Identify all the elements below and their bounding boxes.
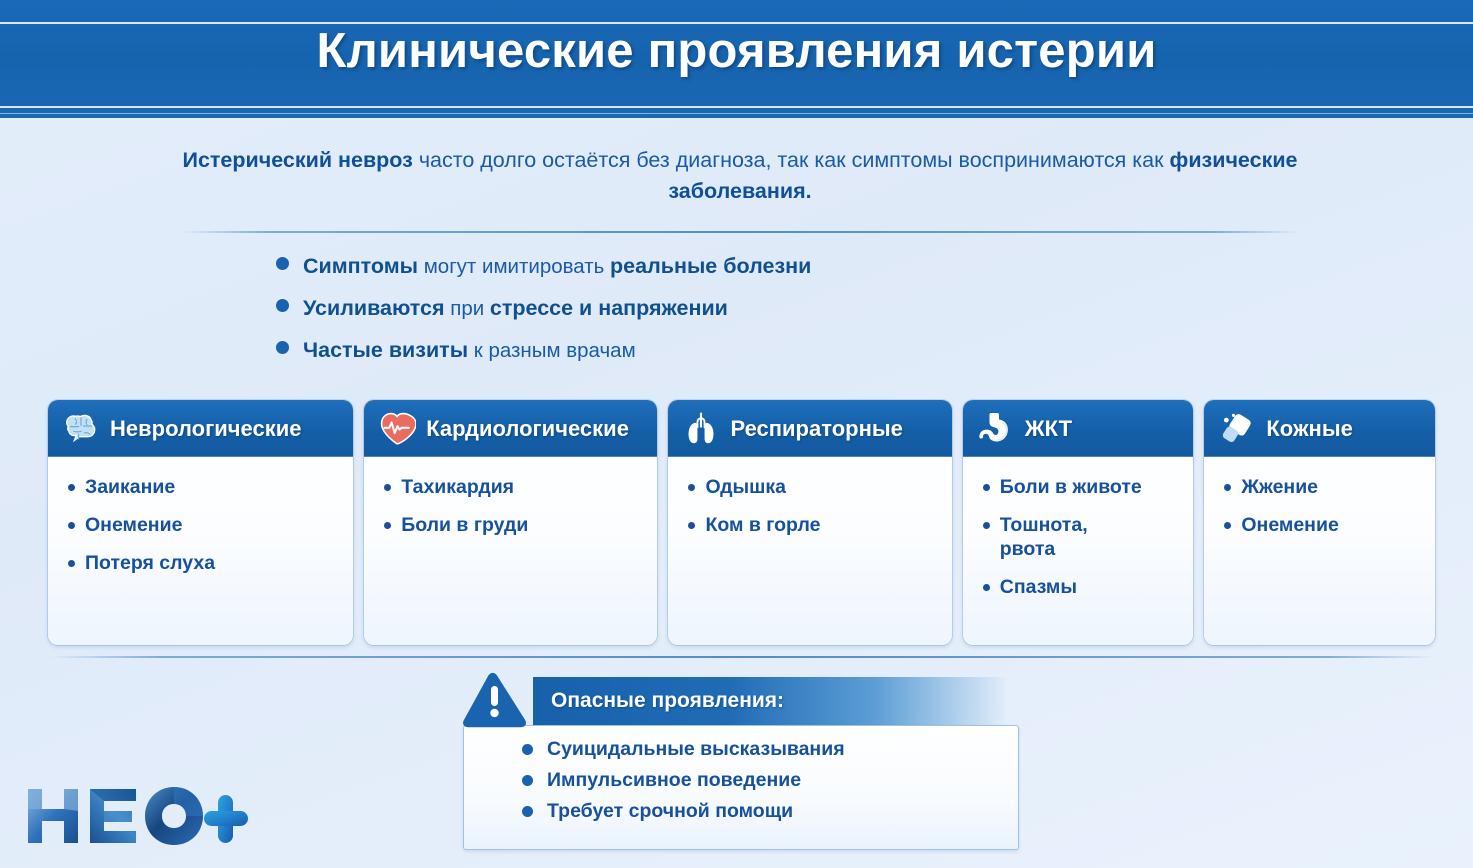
key-point-bold-tail: стрессе и напряжении [490,296,728,320]
key-point-bold-head: Частые визиты [303,338,468,362]
danger-callout-title: Опасные проявления: [533,689,784,713]
symptom-label: Одышка [705,475,786,499]
list-item: Ком в горле [688,513,941,537]
bullet-dot-icon [1224,522,1231,529]
card-dermatological[interactable]: Кожные Жжение Онемение [1204,400,1435,645]
danger-callout-body: Суицидальные высказывания Импульсивное п… [463,725,1019,850]
card-header: Кардиологические [364,400,657,457]
divider-lower [50,656,1435,658]
page-header-bar: Клинические проявления истерии [0,0,1473,118]
list-item: Боли в животе [983,475,1184,499]
symptom-label: Боли в животе [1000,475,1142,499]
logo-letter-o [145,787,203,845]
warning-triangle-icon [463,672,541,734]
heart-pulse-icon [378,410,416,448]
bullet-dot-icon [276,341,289,354]
lungs-icon [682,410,720,448]
brand-logo-neo-plus [22,783,262,849]
symptom-label: Тошнота, рвота [1000,513,1130,561]
card-title: Респираторные [730,416,902,442]
card-header: Респираторные [668,400,951,457]
symptom-label: Тахикардия [401,475,514,499]
danger-item-label: Импульсивное поведение [547,769,801,792]
symptom-label: Заикание [85,475,175,499]
card-respiratory[interactable]: Респираторные Одышка Ком в горле [668,400,951,645]
card-title: Кардиологические [426,416,629,442]
card-title: Неврологические [110,416,302,442]
bullet-dot-icon [522,744,533,755]
bullet-dot-icon [983,484,990,491]
key-point-bold-tail: реальные болезни [610,254,811,278]
card-title: ЖКТ [1025,416,1072,442]
list-item: Суицидальные высказывания [522,738,1018,761]
list-item: Импульсивное поведение [522,769,1018,792]
bullet-dot-icon [68,560,75,567]
card-body: Боли в животе Тошнота, рвота Спазмы [963,457,1194,645]
logo-letter-n [28,789,78,843]
list-item: Тахикардия [384,475,647,499]
card-header: Неврологические [48,400,353,457]
bullet-dot-icon [983,584,990,591]
danger-item-label: Требует срочной помощи [547,800,793,823]
symptom-label: Потеря слуха [85,551,215,575]
bullet-dot-icon [1224,484,1231,491]
bullet-dot-icon [522,775,533,786]
card-cardiological[interactable]: Кардиологические Тахикардия Боли в груди [364,400,657,645]
logo-letter-e [90,789,136,843]
symptom-label: Спазмы [1000,575,1077,599]
list-item: Тошнота, рвота [983,513,1184,561]
bullet-dot-icon [688,484,695,491]
danger-callout-header: Опасные проявления: [533,677,1023,725]
bullet-dot-icon [983,522,990,529]
symptom-label: Ком в горле [705,513,820,537]
danger-callout: Опасные проявления: Суицидальные высказы… [463,672,1023,857]
list-item: Потеря слуха [68,551,343,575]
list-item: Боли в груди [384,513,647,537]
symptom-label: Боли в груди [401,513,528,537]
intro-middle: часто долго остаётся без диагноза, так к… [413,148,1170,172]
intro-paragraph: Истерический невроз часто долго остаётся… [150,145,1330,207]
symptom-label: Онемение [1241,513,1338,537]
bullet-dot-icon [276,257,289,270]
list-item: Усиливаются при стрессе и напряжении [276,296,811,321]
list-item: Заикание [68,475,343,499]
symptom-cards-row: Неврологические Заикание Онемение Потеря… [48,400,1435,645]
card-body: Тахикардия Боли в груди [364,457,657,645]
bullet-dot-icon [688,522,695,529]
card-neurological[interactable]: Неврологические Заикание Онемение Потеря… [48,400,353,645]
key-point-regular: могут имитировать [418,255,610,278]
list-item: Онемение [1224,513,1425,537]
symptom-label: Жжение [1241,475,1318,499]
key-point-bold-head: Симптомы [303,254,418,278]
bullet-dot-icon [276,299,289,312]
key-points-list: Симптомы могут имитировать реальные боле… [276,254,811,380]
card-header: Кожные [1204,400,1435,457]
key-point-bold-head: Усиливаются [303,296,445,320]
key-point-tail: к разным врачам [474,339,636,362]
logo-plus-icon [204,795,248,843]
brain-icon [62,410,100,448]
card-body: Одышка Ком в горле [668,457,951,645]
bullet-dot-icon [522,806,533,817]
list-item: Частые визиты к разным врачам [276,338,811,363]
symptom-label: Онемение [85,513,182,537]
card-header: ЖКТ [963,400,1194,457]
page-title: Клинические проявления истерии [0,23,1473,79]
card-gastrointestinal[interactable]: ЖКТ Боли в животе Тошнота, рвота Спазмы [963,400,1194,645]
list-item: Симптомы могут имитировать реальные боле… [276,254,811,279]
card-body: Жжение Онемение [1204,457,1435,645]
stomach-icon [977,410,1015,448]
skin-patch-icon [1218,410,1256,448]
bullet-dot-icon [68,522,75,529]
key-point-regular: при [445,297,490,320]
header-rule-bottom [0,106,1473,108]
header-rule-bottom-thin [0,113,1473,114]
card-body: Заикание Онемение Потеря слуха [48,457,353,645]
divider-upper [180,231,1300,233]
list-item: Одышка [688,475,941,499]
list-item: Требует срочной помощи [522,800,1018,823]
bullet-dot-icon [384,522,391,529]
intro-lead: Истерический невроз [182,148,412,172]
bullet-dot-icon [68,484,75,491]
list-item: Спазмы [983,575,1184,599]
list-item: Онемение [68,513,343,537]
danger-item-label: Суицидальные высказывания [547,738,845,761]
bullet-dot-icon [384,484,391,491]
list-item: Жжение [1224,475,1425,499]
card-title: Кожные [1266,416,1353,442]
